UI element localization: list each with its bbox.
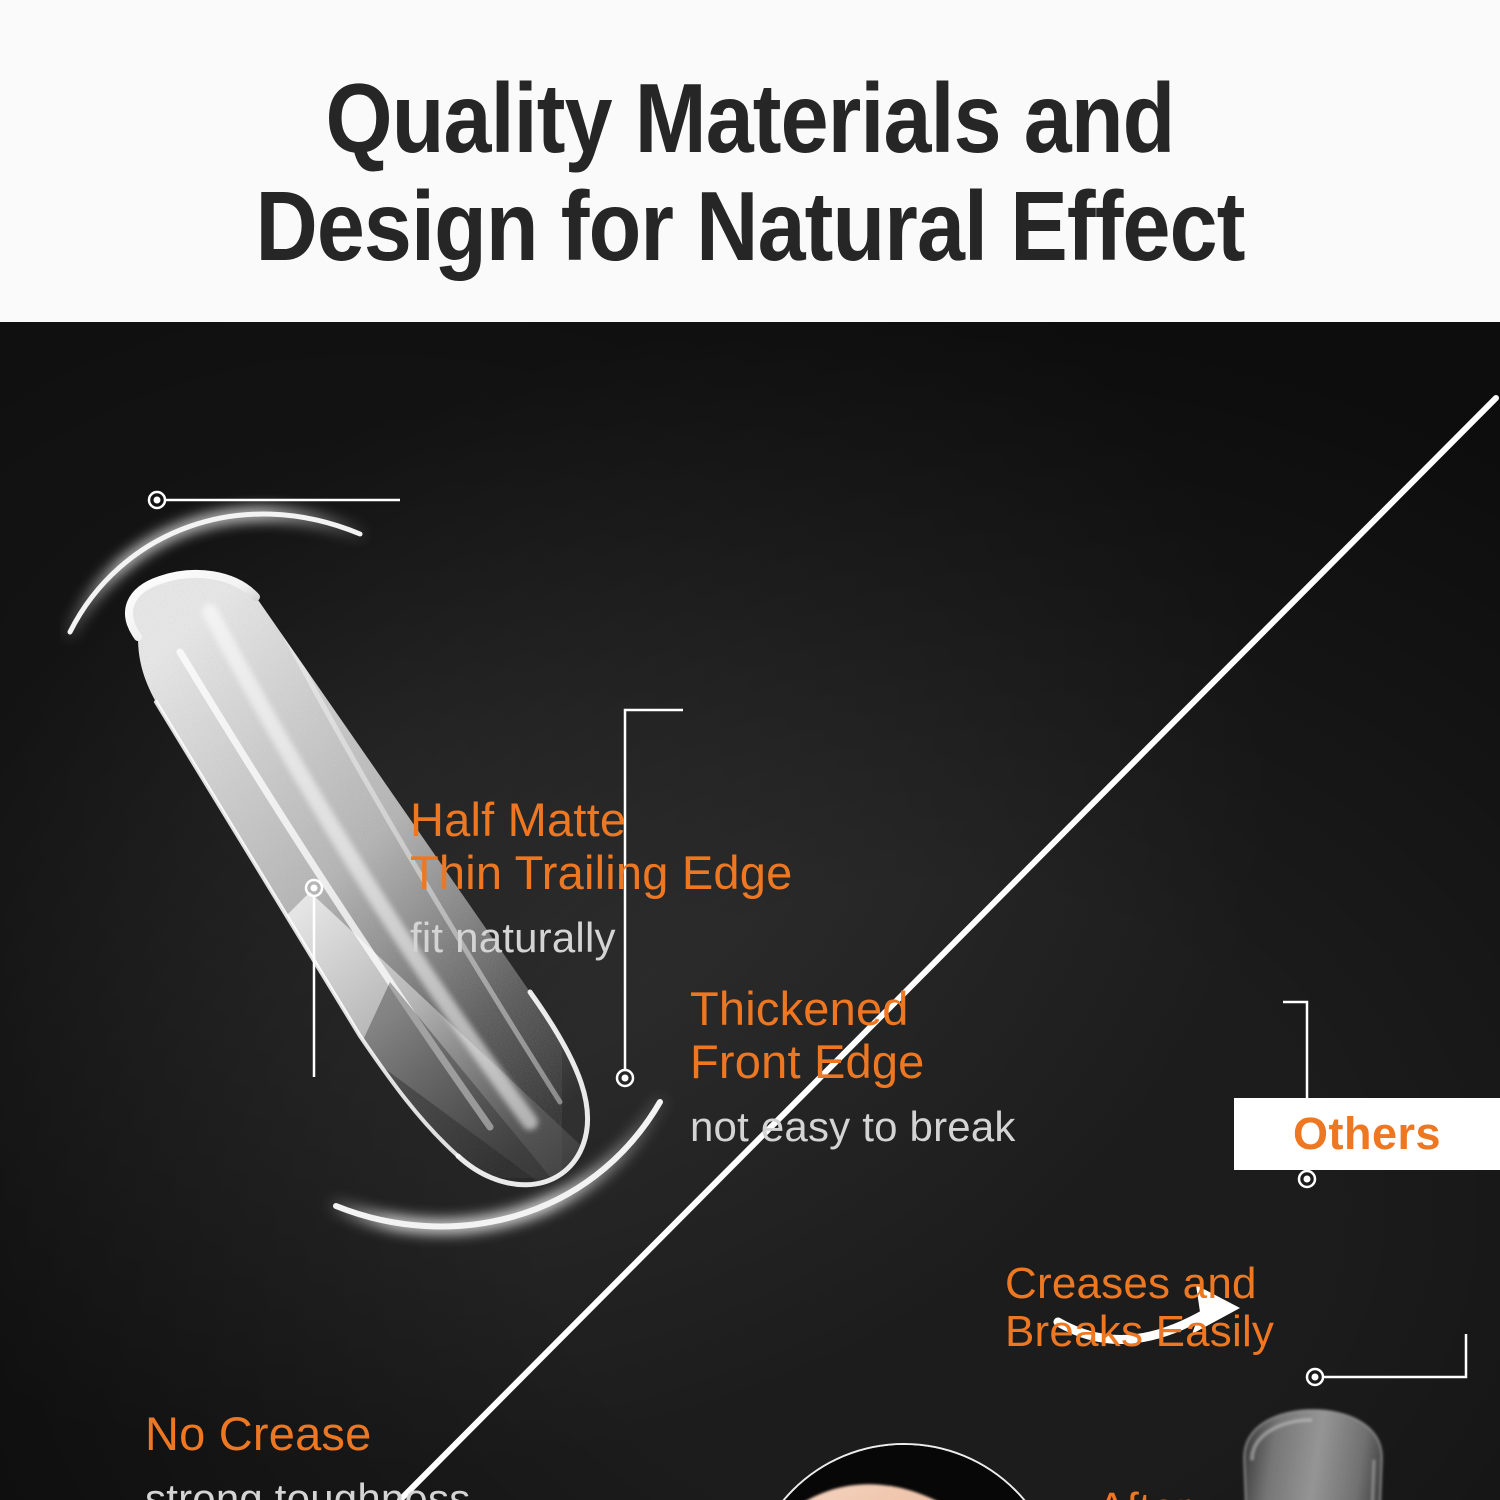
page-title: Quality Materials and Design for Natural… bbox=[90, 64, 1410, 280]
bend-demo-photo bbox=[748, 1445, 1060, 1500]
product-infographic: Quality Materials and Design for Natural… bbox=[0, 0, 1500, 1500]
callout-no-crease: No Crease strong toughness bbox=[145, 1407, 470, 1500]
leader-half-matte bbox=[149, 492, 400, 508]
callout-half-matte-subtitle: fit naturally bbox=[410, 913, 792, 963]
callout-thickened-front-edge: Thickened Front Edge not easy to break bbox=[690, 982, 1016, 1152]
callout-half-matte-title: Half Matte Thin Trailing Edge bbox=[410, 793, 792, 899]
callout-thickened-front-edge-title: Thickened Front Edge bbox=[690, 982, 1016, 1088]
callout-creases-breaks-title: Creases and Breaks Easily bbox=[1005, 1260, 1274, 1356]
header-band: Quality Materials and Design for Natural… bbox=[0, 0, 1500, 322]
callout-no-crease-subtitle: strong toughness bbox=[145, 1474, 470, 1500]
callout-half-matte: Half Matte Thin Trailing Edge fit natura… bbox=[410, 793, 792, 963]
callout-creases-breaks: Creases and Breaks Easily bbox=[1005, 1260, 1274, 1356]
bend-demo-photo-content bbox=[748, 1445, 1060, 1500]
abs-nail-image bbox=[1208, 1400, 1418, 1500]
callout-thickened-front-edge-subtitle: not easy to break bbox=[690, 1102, 1016, 1152]
leader-no-crease bbox=[306, 880, 322, 1077]
comparison-panel: Half Matte Thin Trailing Edge fit natura… bbox=[0, 322, 1500, 1500]
callout-no-crease-title: No Crease bbox=[145, 1407, 470, 1460]
brand-badge-others: Others bbox=[1234, 1098, 1500, 1170]
leader-abs bbox=[1307, 1334, 1466, 1385]
callout-after-bend-title: After Bend bbox=[1097, 1485, 1201, 1500]
callout-after-bend: After Bend bbox=[1097, 1485, 1201, 1500]
